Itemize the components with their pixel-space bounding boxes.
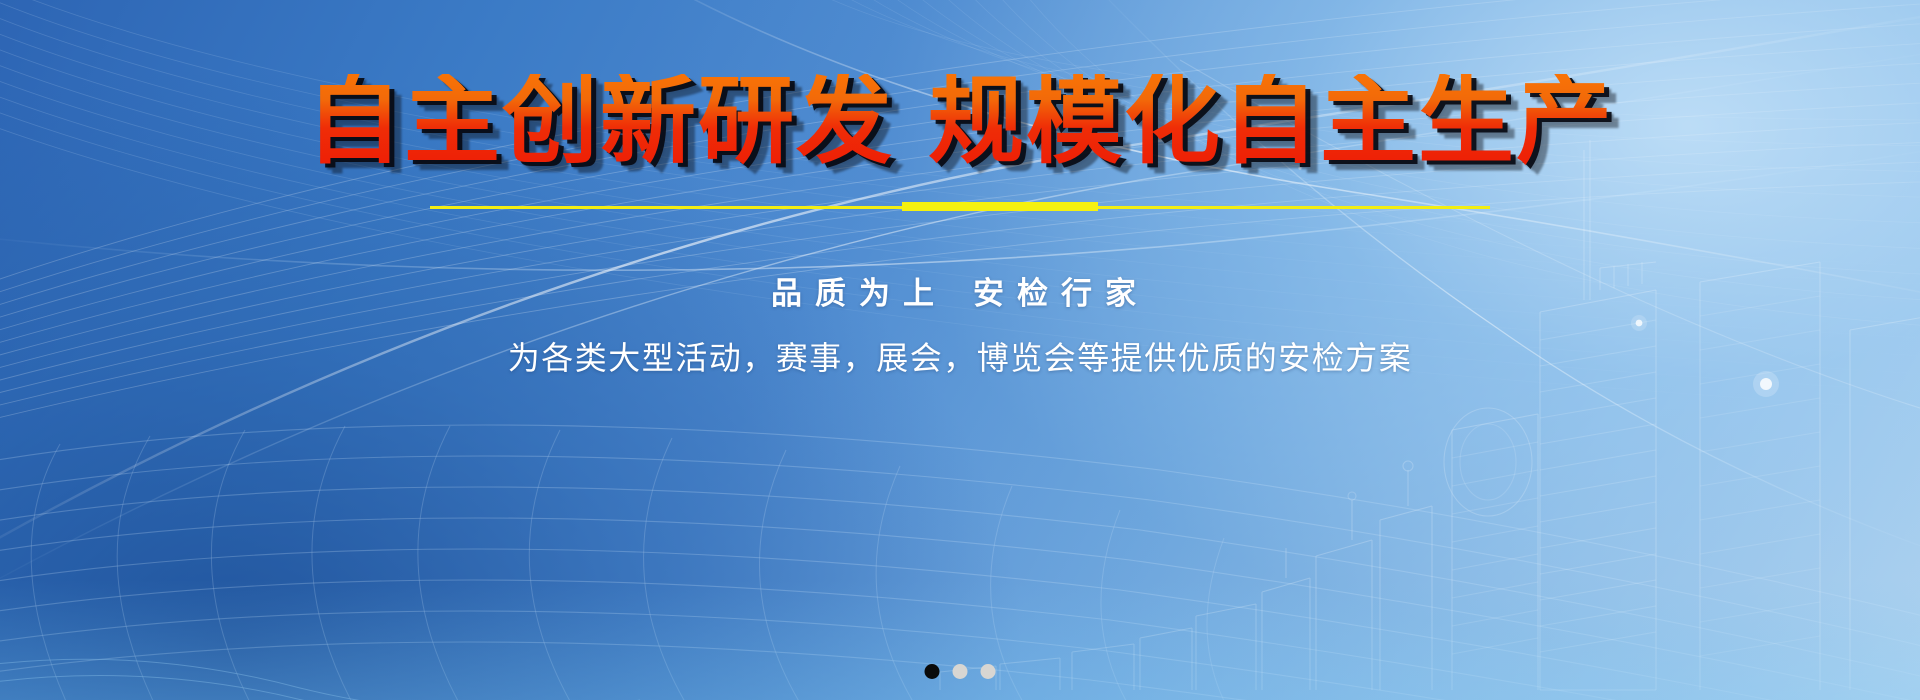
carousel-dots[interactable] — [925, 664, 996, 679]
yellow-divider — [430, 200, 1490, 214]
divider-thick-rule — [902, 202, 1098, 211]
banner-content: 自主创新研发规模化自主生产 品质为上安检行家 为各类大型活动，赛事，展会，博览会… — [0, 0, 1920, 700]
headline-part-2: 规模化自主生产 — [928, 68, 1614, 175]
carousel-dot-1[interactable] — [925, 664, 940, 679]
hero-banner: 自主创新研发规模化自主生产 品质为上安检行家 为各类大型活动，赛事，展会，博览会… — [0, 0, 1920, 700]
carousel-dot-2[interactable] — [953, 664, 968, 679]
banner-slogan: 品质为上安检行家 — [771, 268, 1149, 313]
banner-tagline: 为各类大型活动，赛事，展会，博览会等提供优质的安检方案 — [508, 333, 1413, 379]
slogan-left: 品质为上 — [771, 276, 947, 311]
slogan-right: 安检行家 — [973, 276, 1149, 311]
carousel-dot-3[interactable] — [981, 664, 996, 679]
headline-part-1: 自主创新研发 — [306, 68, 894, 175]
banner-headline: 自主创新研发规模化自主生产 — [306, 74, 1614, 170]
